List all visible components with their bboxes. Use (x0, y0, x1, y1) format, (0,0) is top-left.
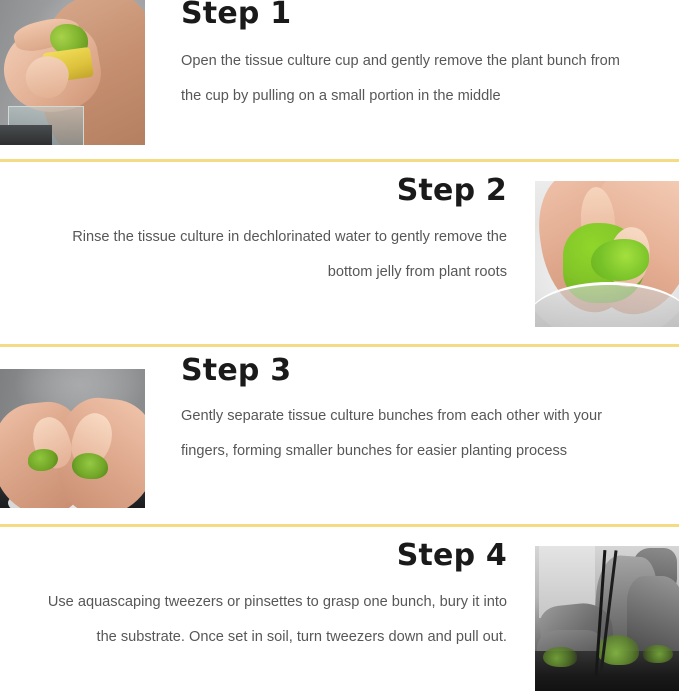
aquascape-tweezers-planting-photo (535, 546, 679, 691)
step-block-2: Step 2 Rinse the tissue culture in dechl… (0, 162, 679, 344)
step-body-3: Gently separate tissue culture bunches f… (181, 399, 643, 469)
hand-opening-tissue-culture-cup-photo (0, 0, 145, 145)
planting-guide-infographic: Step 1 Open the tissue culture cup and g… (0, 0, 679, 684)
step-text-column-3: Step 3 Gently separate tissue culture bu… (145, 347, 679, 469)
step-heading-2: Step 2 (40, 175, 507, 207)
step-block-1: Step 1 Open the tissue culture cup and g… (0, 0, 679, 159)
dark-substrate-shape (0, 125, 52, 145)
step-body-2: Rinse the tissue culture in dechlorinate… (40, 220, 507, 290)
step-body-4: Use aquascaping tweezers or pinsettes to… (40, 585, 507, 655)
step-block-3: Step 3 Gently separate tissue culture bu… (0, 347, 679, 524)
step-text-column-2: Step 2 Rinse the tissue culture in dechl… (0, 162, 535, 290)
step-text-column-4: Step 4 Use aquascaping tweezers or pinse… (0, 527, 535, 655)
green-plant-right-shape (643, 645, 673, 663)
green-plant-right-shape (72, 453, 108, 479)
hands-separating-plant-bunches-photo (0, 369, 145, 508)
green-plant-left-shape (543, 647, 577, 667)
step-heading-3: Step 3 (181, 355, 643, 387)
step-heading-4: Step 4 (40, 540, 507, 572)
green-plant-highlight-shape (591, 239, 649, 281)
step-heading-1: Step 1 (181, 0, 643, 30)
step-body-1: Open the tissue culture cup and gently r… (181, 44, 643, 114)
step-text-column-1: Step 1 Open the tissue culture cup and g… (145, 0, 679, 114)
step-block-4: Step 4 Use aquascaping tweezers or pinse… (0, 527, 679, 693)
hands-rinsing-plant-in-bowl-photo (535, 181, 679, 327)
